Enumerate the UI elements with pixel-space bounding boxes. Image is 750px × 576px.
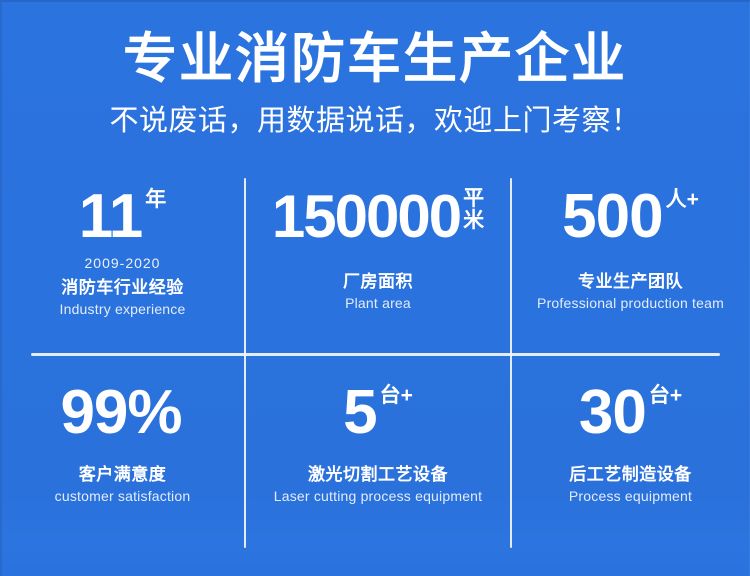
stat-number: 11 bbox=[79, 186, 143, 248]
stat-unit: 年 bbox=[145, 189, 166, 211]
page-subtitle: 不说废话，用数据说话，欢迎上门考察！ bbox=[0, 92, 750, 140]
stat-label-cn: 厂房面积 bbox=[343, 271, 413, 292]
stat-number: 99% bbox=[60, 382, 181, 444]
stat-cell-plant-area: 150000 平 米 厂房面积 Plant area bbox=[245, 178, 511, 354]
stat-unit: 人+ bbox=[666, 189, 699, 211]
stat-number: 30 bbox=[579, 382, 646, 444]
stat-number-line: 11 年 bbox=[79, 186, 167, 248]
stat-label-en: customer satisfaction bbox=[55, 488, 191, 505]
stat-label-en: Laser cutting process equipment bbox=[274, 488, 483, 505]
stat-cell-production-team: 500 人+ 专业生产团队 Professional production te… bbox=[511, 178, 750, 354]
stat-unit: 台+ bbox=[649, 385, 682, 407]
stat-label-cn: 后工艺制造设备 bbox=[569, 464, 692, 485]
stats-grid: 11 年 2009-2020 消防车行业经验 Industry experien… bbox=[0, 178, 750, 550]
stat-number: 500 bbox=[562, 186, 662, 248]
stat-label-en: Plant area bbox=[345, 295, 411, 312]
stat-number: 5 bbox=[343, 382, 376, 444]
stat-range: 2009-2020 bbox=[85, 255, 161, 271]
stat-number-line: 500 人+ bbox=[562, 186, 699, 248]
stat-label-en: Industry experience bbox=[60, 301, 186, 318]
stat-cell-laser-cutting-equipment: 5 台+ 激光切割工艺设备 Laser cutting process equi… bbox=[245, 354, 511, 550]
stat-label-cn: 专业生产团队 bbox=[578, 271, 683, 292]
stat-label-en: Process equipment bbox=[569, 488, 692, 505]
stat-label-en: Professional production team bbox=[537, 295, 724, 312]
stat-label-cn: 客户满意度 bbox=[79, 464, 167, 485]
stat-cell-customer-satisfaction: 99% 客户满意度 customer satisfaction bbox=[0, 354, 245, 550]
company-stats-banner: 专业消防车生产企业 不说废话，用数据说话，欢迎上门考察！ 11 年 2009-2… bbox=[0, 0, 750, 576]
grid-divider-vertical-left bbox=[244, 178, 246, 548]
stat-label-cn: 激光切割工艺设备 bbox=[308, 464, 448, 485]
stat-cell-industry-experience: 11 年 2009-2020 消防车行业经验 Industry experien… bbox=[0, 178, 245, 354]
page-title: 专业消防车生产企业 bbox=[0, 0, 750, 92]
grid-divider-vertical-right bbox=[510, 178, 512, 548]
stat-number-line: 99% bbox=[60, 382, 184, 444]
grid-divider-horizontal bbox=[31, 353, 720, 356]
stat-number-line: 150000 平 米 bbox=[272, 186, 484, 248]
banner-header: 专业消防车生产企业 不说废话，用数据说话，欢迎上门考察！ bbox=[0, 0, 750, 140]
stat-label-cn: 消防车行业经验 bbox=[61, 277, 184, 298]
stat-number-line: 5 台+ bbox=[343, 382, 413, 444]
stat-number: 150000 bbox=[272, 186, 460, 248]
stat-number-line: 30 台+ bbox=[579, 382, 682, 444]
stat-unit: 台+ bbox=[380, 385, 413, 407]
stat-unit: 平 米 bbox=[463, 188, 484, 232]
stat-cell-process-equipment: 30 台+ 后工艺制造设备 Process equipment bbox=[511, 354, 750, 550]
